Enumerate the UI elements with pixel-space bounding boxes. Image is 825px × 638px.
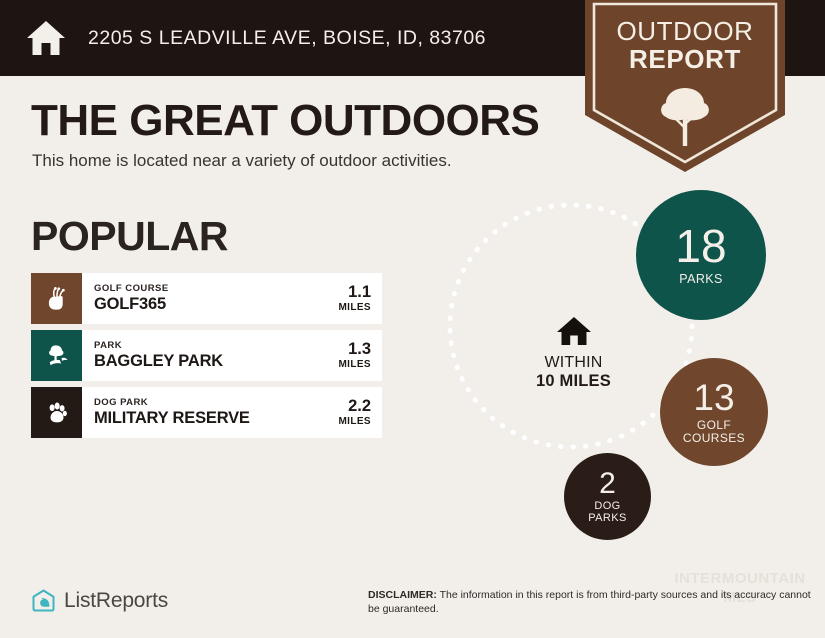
- logo-text: ListReports: [64, 589, 168, 613]
- list-item[interactable]: GOLF COURSE GOLF365 1.1 MILES: [31, 273, 382, 324]
- list-item-text: DOG PARK MILITARY RESERVE: [82, 387, 338, 438]
- outdoor-stats-diagram: WITHIN 10 MILES 18 PARKS 13 GOLF COURSES…: [425, 175, 825, 565]
- distance-unit: MILES: [338, 415, 371, 428]
- section-heading-popular: POPULAR: [31, 213, 228, 260]
- distance-value: 2.2: [348, 397, 371, 415]
- stat-circle-golf-courses[interactable]: 13 GOLF COURSES: [660, 358, 768, 466]
- list-item[interactable]: PARK BAGGLEY PARK 1.3 MILES: [31, 330, 382, 381]
- stat-label-line2: COURSES: [683, 432, 745, 445]
- list-item-name: GOLF365: [94, 295, 338, 313]
- property-address: 2205 S LEADVILLE AVE, BOISE, ID, 83706: [88, 27, 486, 50]
- distance-unit: MILES: [338, 358, 371, 371]
- stat-value: 2: [599, 469, 616, 499]
- home-icon: [26, 19, 66, 57]
- within-radius-label: WITHIN 10 MILES: [521, 315, 626, 391]
- outdoor-report-badge: OUTDOOR REPORT: [585, 0, 785, 172]
- list-item-category: PARK: [94, 340, 338, 352]
- list-item[interactable]: DOG PARK MILITARY RESERVE 2.2 MILES: [31, 387, 382, 438]
- listreports-house-icon: [31, 588, 56, 613]
- page-subtitle: This home is located near a variety of o…: [32, 151, 452, 171]
- list-item-name: MILITARY RESERVE: [94, 409, 338, 427]
- disclaimer-label: DISCLAIMER:: [368, 589, 437, 601]
- list-item-text: GOLF COURSE GOLF365: [82, 273, 338, 324]
- stat-circle-dog-parks[interactable]: 2 DOG PARKS: [564, 453, 651, 540]
- home-icon: [556, 315, 592, 347]
- list-item-text: PARK BAGGLEY PARK: [82, 330, 338, 381]
- stat-label: PARKS: [679, 273, 722, 287]
- list-item-name: BAGGLEY PARK: [94, 352, 338, 370]
- stat-circle-parks[interactable]: 18 PARKS: [636, 190, 766, 320]
- distance-value: 1.3: [348, 340, 371, 358]
- stat-label-line1: DOG: [594, 501, 620, 513]
- within-text: WITHIN: [521, 354, 626, 372]
- stat-value: 18: [675, 223, 726, 269]
- list-item-category: GOLF COURSE: [94, 283, 338, 295]
- stat-value: 13: [693, 379, 734, 416]
- radius-text: 10 MILES: [521, 372, 626, 391]
- golf-bag-icon: [31, 273, 82, 324]
- list-item-distance: 1.3 MILES: [338, 330, 382, 381]
- watermark-line1: INTERMOUNTAIN: [665, 570, 815, 589]
- park-tree-bench-icon: [31, 330, 82, 381]
- paw-print-icon: [31, 387, 82, 438]
- page-title: THE GREAT OUTDOORS: [31, 96, 539, 146]
- list-item-distance: 1.1 MILES: [338, 273, 382, 324]
- distance-value: 1.1: [348, 283, 371, 301]
- disclaimer: DISCLAIMER: The information in this repo…: [368, 588, 813, 617]
- popular-list: GOLF COURSE GOLF365 1.1 MILES PARK BAGGL…: [31, 273, 382, 444]
- list-item-category: DOG PARK: [94, 397, 338, 409]
- listreports-logo[interactable]: ListReports: [31, 588, 168, 613]
- distance-unit: MILES: [338, 301, 371, 314]
- list-item-distance: 2.2 MILES: [338, 387, 382, 438]
- stat-label-line2: PARKS: [588, 513, 626, 525]
